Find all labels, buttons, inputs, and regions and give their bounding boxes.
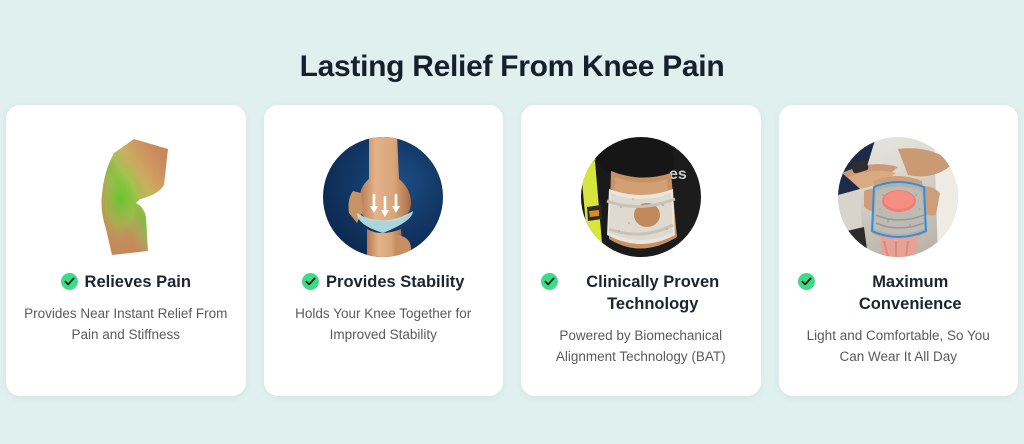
- card-heading: Provides Stability: [302, 271, 464, 293]
- feature-card-maximum-convenience[interactable]: Maximum Convenience Light and Comfortabl…: [779, 105, 1019, 396]
- card-description: Powered by Biomechanical Alignment Techn…: [538, 325, 743, 367]
- feature-card-relieves-pain[interactable]: Relieves Pain Provides Near Instant Reli…: [6, 105, 246, 396]
- check-circle-icon: [541, 273, 558, 290]
- card-heading-text: Relieves Pain: [85, 271, 191, 293]
- feature-card-provides-stability[interactable]: Provides Stability Holds Your Knee Toget…: [264, 105, 504, 396]
- hands-on-braced-knee-photo: [838, 137, 958, 257]
- media-circle: es: [581, 137, 701, 257]
- feature-cards-row: Relieves Pain Provides Near Instant Reli…: [6, 105, 1018, 396]
- card-description: Provides Near Instant Relief From Pain a…: [23, 303, 228, 345]
- check-circle-icon: [302, 273, 319, 290]
- card-heading-text: Maximum Convenience: [822, 271, 998, 315]
- card-heading-text: Provides Stability: [326, 271, 464, 293]
- card-heading: Relieves Pain: [61, 271, 191, 293]
- check-circle-icon: [798, 273, 815, 290]
- media-circle: [838, 137, 958, 257]
- athlete-knee-brace-photo: es: [581, 137, 701, 257]
- knee-brace-illustration: es: [581, 137, 701, 257]
- feature-card-clinically-proven[interactable]: es: [521, 105, 761, 396]
- media-circle: [323, 137, 443, 257]
- knee-joint-anatomy-image: [323, 137, 443, 257]
- braced-knee-illustration: [838, 137, 958, 257]
- thermal-leg-graphic: [78, 137, 174, 257]
- knee-joint-illustration: [323, 137, 443, 257]
- card-heading-text: Clinically Proven Technology: [565, 271, 741, 315]
- check-circle-icon: [61, 273, 78, 290]
- page-title: Lasting Relief From Knee Pain: [0, 48, 1024, 86]
- card-heading: Maximum Convenience: [798, 271, 998, 315]
- thermal-knee-sleeve-image: [66, 137, 186, 257]
- card-heading: Clinically Proven Technology: [541, 271, 741, 315]
- card-description: Light and Comfortable, So You Can Wear I…: [796, 325, 1001, 367]
- card-description: Holds Your Knee Together for Improved St…: [281, 303, 486, 345]
